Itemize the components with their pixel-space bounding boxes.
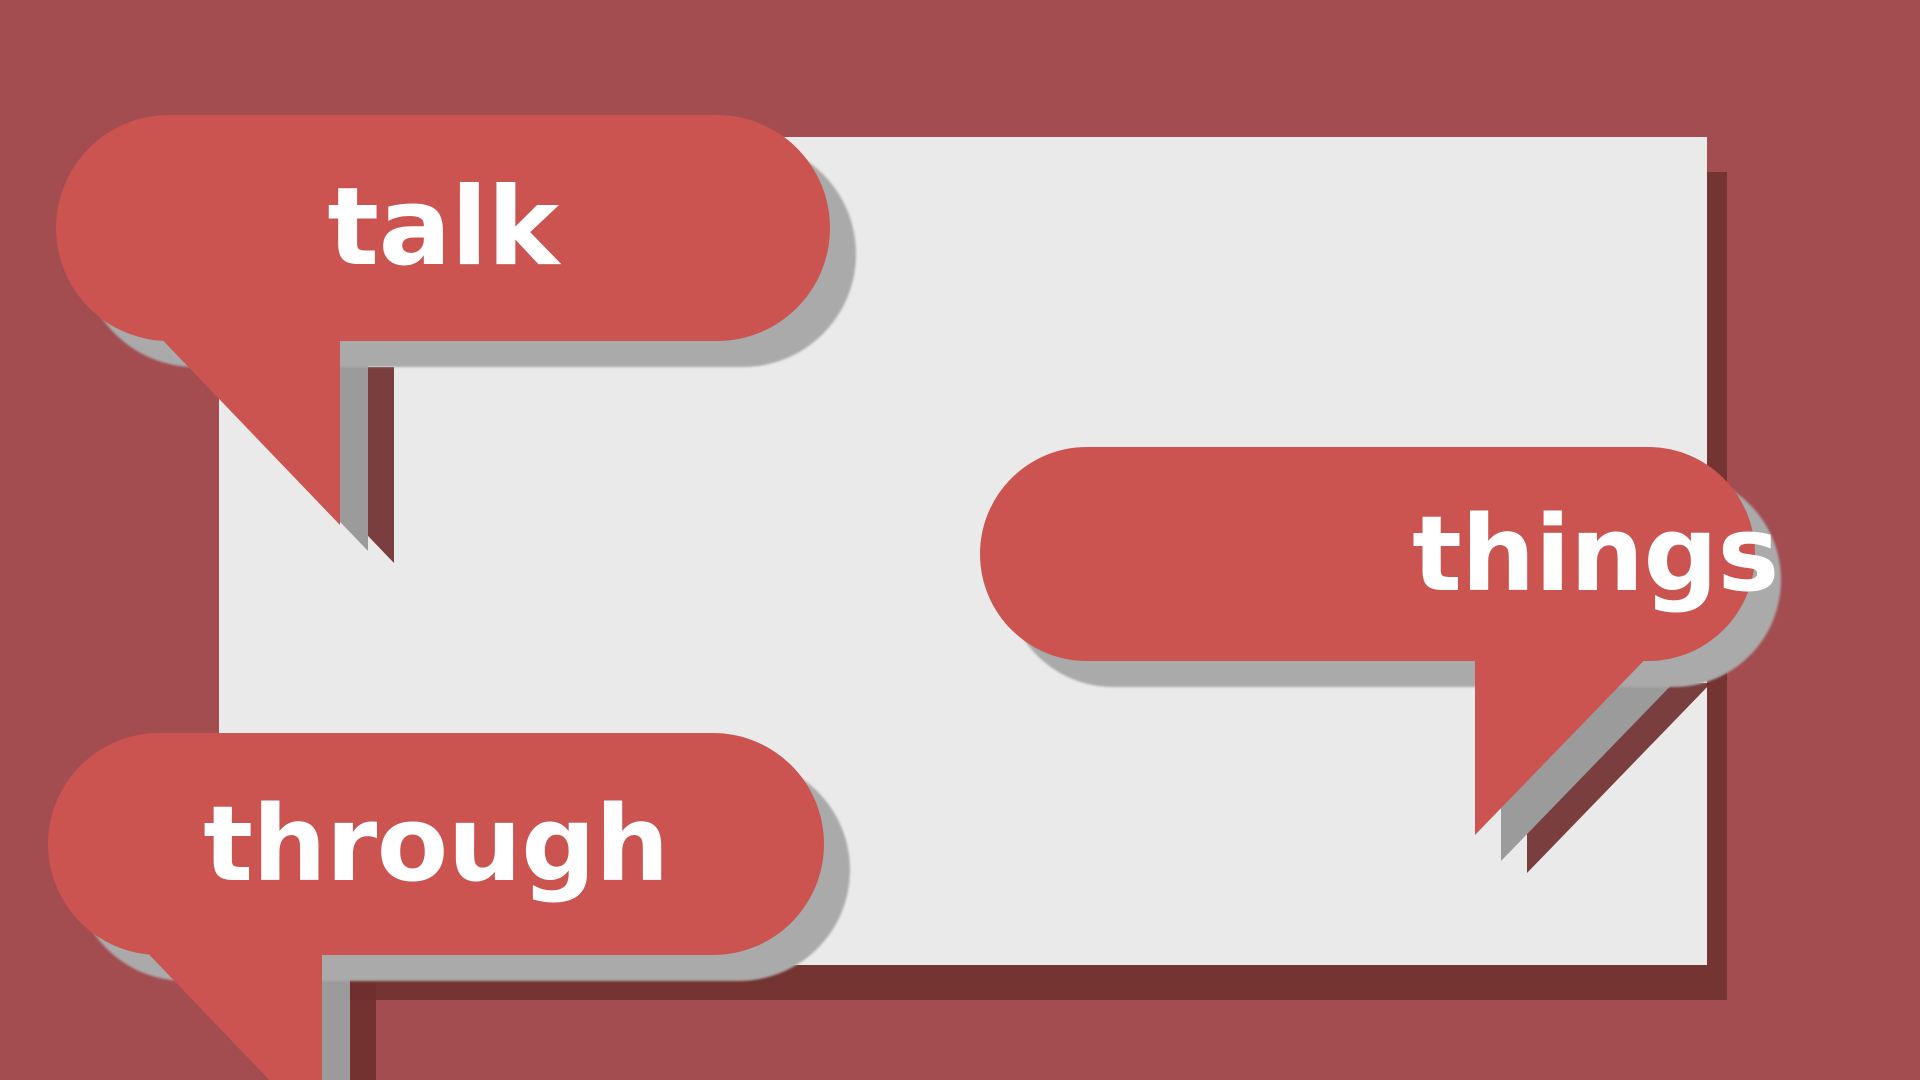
speech-bubble-things-tail [1475,645,1659,835]
speech-bubble-through-label: through [48,733,1014,955]
slide-canvas: talk things through [0,0,1920,1080]
speech-bubble-things[interactable]: things [980,447,1755,661]
speech-bubble-through-tail [138,943,322,1080]
speech-bubble-talk-tail [152,329,340,525]
speech-bubble-talk-label: talk [56,115,1078,341]
speech-bubble-talk[interactable]: talk [56,115,830,341]
speech-bubble-through[interactable]: through [48,733,824,955]
speech-bubble-things-label: things [980,447,1920,661]
